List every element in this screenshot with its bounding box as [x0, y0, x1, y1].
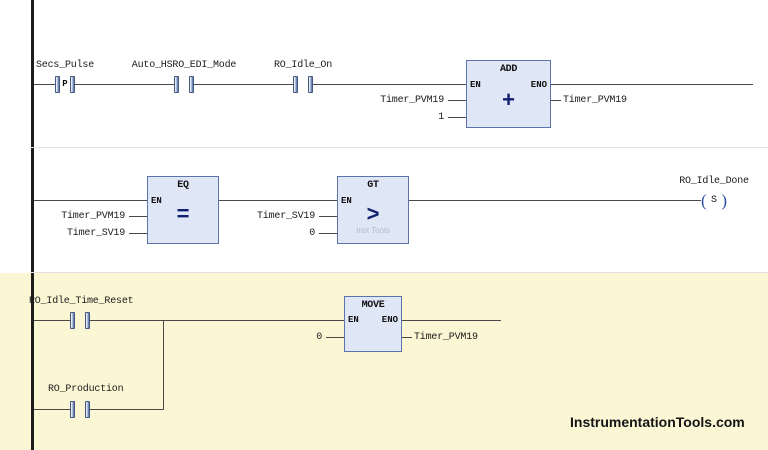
function-block-name: ADD [467, 64, 550, 75]
wire-move-output [402, 337, 412, 338]
contact-bar-left [70, 401, 75, 418]
contact-ro-production[interactable] [70, 401, 90, 418]
left-power-rail [31, 0, 34, 148]
contact-bar-left [70, 312, 75, 329]
contact-bar-right [189, 76, 194, 93]
function-block-name: MOVE [345, 300, 401, 311]
contact-label-ro-production: RO_Production [48, 384, 123, 395]
contact-bar-right [308, 76, 313, 93]
move-input-label-1: 0 [316, 332, 322, 343]
wire-rail-to-contact-1 [34, 84, 55, 85]
contact-bar-left [293, 76, 298, 93]
rung-1-background [0, 0, 768, 148]
set-coil-ro-idle-done[interactable]: ( S ) [701, 191, 727, 210]
branch-vertical-connector [163, 320, 164, 410]
contact-bar-right [85, 312, 90, 329]
contact-bar-left [174, 76, 179, 93]
rung-3[interactable]: RO_Idle_Time_Reset RO_Production MOVE EN [0, 273, 768, 450]
wire-add-eno-out [551, 84, 753, 85]
move-output-label: Timer_PVM19 [414, 332, 478, 343]
wire-add-input-2 [448, 117, 466, 118]
ladder-logic-editor: Secs_Pulse Auto_HSRO_EDI_Mode RO_Idle_On… [0, 0, 768, 450]
wire-rail-to-contact-production [34, 409, 70, 410]
function-block-operator-symbol: > [338, 203, 408, 225]
wire-add-output [551, 100, 561, 101]
contact-label-auto-hsro-edi-mode: Auto_HSRO_EDI_Mode [132, 60, 236, 71]
wire-move-input-1 [326, 337, 344, 338]
site-watermark: InstrumentationTools.com [570, 414, 745, 430]
wire-eq-input-1 [129, 216, 147, 217]
coil-paren-right: ) [721, 191, 727, 210]
gt-input-label-1: Timer_SV19 [257, 211, 315, 222]
function-block-operator-symbol: + [467, 89, 550, 111]
contact-ro-idle-on[interactable] [293, 76, 313, 93]
wire-contact-1-to-contact-2 [75, 84, 174, 85]
wire-add-input-1 [448, 100, 466, 101]
wire-contact-production-to-branch [90, 409, 164, 410]
coil-label-ro-idle-done: RO_Idle_Done [679, 176, 749, 187]
wire-contact-reset-to-branch [90, 320, 164, 321]
eq-input-label-1: Timer_PVM19 [61, 211, 125, 222]
wire-contact-2-to-contact-3 [194, 84, 293, 85]
wire-contact-3-to-add-en [313, 84, 466, 85]
contact-label-ro-idle-on: RO_Idle_On [274, 60, 332, 71]
wire-gt-input-1 [319, 216, 337, 217]
add-input-label-2: 1 [438, 112, 444, 123]
eq-input-label-2: Timer_SV19 [67, 228, 125, 239]
function-block-add[interactable]: ADD EN ENO + [466, 60, 551, 128]
wire-gt-to-coil [409, 200, 701, 201]
block-watermark-text: Inst Tools [338, 226, 408, 235]
add-input-label-1: Timer_PVM19 [380, 95, 444, 106]
rung-1[interactable]: Secs_Pulse Auto_HSRO_EDI_Mode RO_Idle_On… [0, 0, 768, 148]
wire-eq-input-2 [129, 233, 147, 234]
contact-bar-right [85, 401, 90, 418]
contact-label-ro-idle-time-reset: RO_Idle_Time_Reset [29, 296, 133, 307]
function-block-move[interactable]: MOVE EN ENO [344, 296, 402, 352]
function-block-eq[interactable]: EQ EN = [147, 176, 219, 244]
function-block-en-pin: EN [348, 315, 359, 325]
contact-auto-hsro-edi-mode[interactable] [174, 76, 194, 93]
contact-bar-right [70, 76, 75, 93]
gt-input-label-2: 0 [309, 228, 315, 239]
function-block-gt[interactable]: GT EN > Inst Tools [337, 176, 409, 244]
function-block-operator-symbol: = [148, 203, 218, 225]
contact-secs-pulse[interactable]: P [55, 76, 75, 93]
wire-move-eno-out [402, 320, 501, 321]
wire-eq-to-gt-en [219, 200, 337, 201]
function-block-name: GT [338, 180, 408, 191]
contact-label-secs-pulse: Secs_Pulse [36, 60, 94, 71]
wire-rail-to-eq-en [34, 200, 147, 201]
wire-rail-to-contact-reset [34, 320, 70, 321]
left-power-rail [31, 148, 34, 273]
wire-branch-to-move-en [163, 320, 344, 321]
add-output-label: Timer_PVM19 [563, 95, 627, 106]
function-block-name: EQ [148, 180, 218, 191]
rung-2[interactable]: EQ EN = GT EN > Inst Tools Timer_PVM19 T… [0, 148, 768, 273]
contact-ro-idle-time-reset[interactable] [70, 312, 90, 329]
function-block-eno-pin: ENO [382, 315, 398, 325]
wire-gt-input-2 [319, 233, 337, 234]
